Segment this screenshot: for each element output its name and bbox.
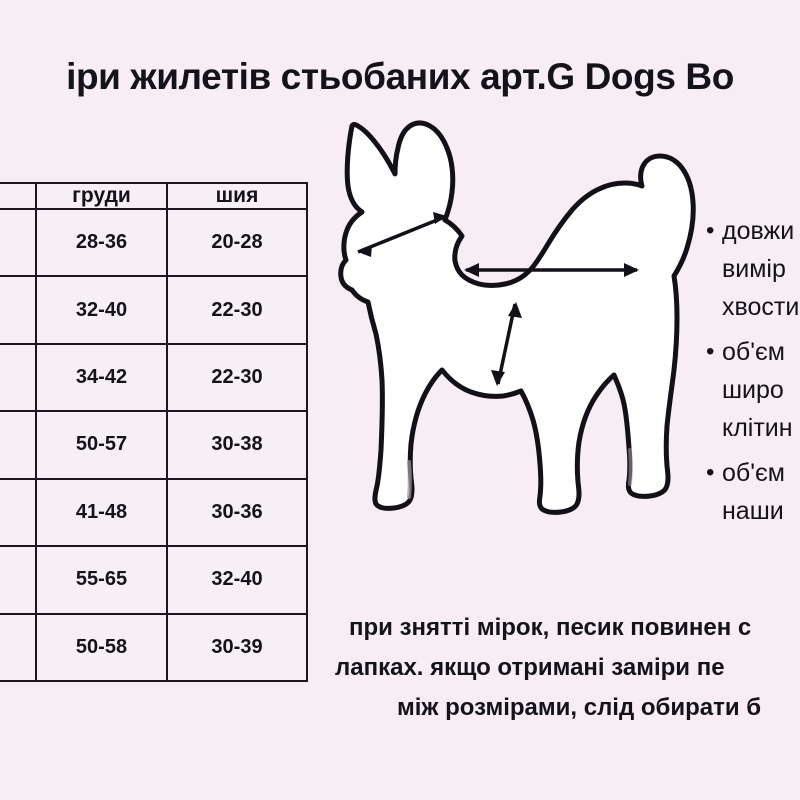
page-root: іри жилетів стьобаних арт.G Dogs Bo а гр…	[0, 0, 800, 800]
note-line: клітин	[722, 409, 800, 447]
page-title-text: іри жилетів стьобаних арт.G Dogs Bo	[66, 48, 734, 106]
dog-silhouette-path	[341, 123, 694, 512]
bullet-icon: •	[706, 454, 722, 492]
table-row: 50-58 30-39	[0, 614, 307, 681]
footnote-line: між розмірами, слід обирати б	[335, 688, 800, 728]
table-row: 50-57 30-38	[0, 411, 307, 478]
cell-neck: 22-30	[167, 344, 307, 411]
table-row: 41-48 30-36	[0, 479, 307, 546]
measurement-notes-list: • довжи вимір хвости • об'єм широ клітин…	[706, 212, 800, 522]
note-line: наши	[722, 492, 800, 522]
note-line: об'єм	[722, 454, 800, 492]
cell-chest: 41-48	[36, 479, 167, 546]
size-chart-container: а груди шия 28-36 20-28 32-40 22-30	[0, 182, 306, 682]
bullet-icon: •	[706, 212, 722, 250]
list-item: • довжи вимір хвости	[706, 212, 800, 326]
list-item: • об'єм наши	[706, 454, 800, 522]
column-header-2: шия	[167, 183, 307, 209]
footnote-line: при знятті мірок, песик повинен с	[335, 608, 800, 648]
column-header-0: а	[0, 183, 36, 209]
bullet-icon: •	[706, 333, 722, 371]
note-line: об'єм	[722, 333, 800, 371]
page-title: іри жилетів стьобаних арт.G Dogs Bo	[0, 48, 800, 106]
cell-size	[0, 209, 36, 276]
table-row: 55-65 32-40	[0, 546, 307, 613]
list-item: • об'єм широ клітин	[706, 333, 800, 447]
table-row: 32-40 22-30	[0, 276, 307, 343]
cell-neck: 20-28	[167, 209, 307, 276]
cell-size	[0, 344, 36, 411]
cell-neck: 22-30	[167, 276, 307, 343]
note-line: широ	[722, 371, 800, 409]
column-header-1: груди	[36, 183, 167, 209]
note-line: довжи	[722, 212, 800, 250]
footnote-line: лапках. якщо отримані заміри пе	[335, 648, 800, 688]
dog-side-view-diagram	[330, 112, 702, 532]
cell-size	[0, 276, 36, 343]
note-line: хвости	[722, 288, 800, 326]
cell-size	[0, 614, 36, 681]
cell-chest: 50-57	[36, 411, 167, 478]
table-row: 28-36 20-28	[0, 209, 307, 276]
cell-chest: 34-42	[36, 344, 167, 411]
dog-hind-leg-line	[630, 450, 631, 484]
measurement-instructions: при знятті мірок, песик повинен с лапках…	[335, 608, 800, 728]
cell-size	[0, 479, 36, 546]
cell-neck: 30-38	[167, 411, 307, 478]
cell-size	[0, 411, 36, 478]
cell-chest: 50-58	[36, 614, 167, 681]
cell-chest: 32-40	[36, 276, 167, 343]
table-header-row: а груди шия	[0, 183, 307, 209]
cell-neck: 32-40	[167, 546, 307, 613]
table-row: 34-42 22-30	[0, 344, 307, 411]
dog-front-leg-line	[409, 462, 410, 497]
cell-neck: 30-39	[167, 614, 307, 681]
note-line: вимір	[722, 250, 800, 288]
cell-chest: 28-36	[36, 209, 167, 276]
cell-chest: 55-65	[36, 546, 167, 613]
cell-size	[0, 546, 36, 613]
size-chart-table: а груди шия 28-36 20-28 32-40 22-30	[0, 182, 308, 682]
cell-neck: 30-36	[167, 479, 307, 546]
